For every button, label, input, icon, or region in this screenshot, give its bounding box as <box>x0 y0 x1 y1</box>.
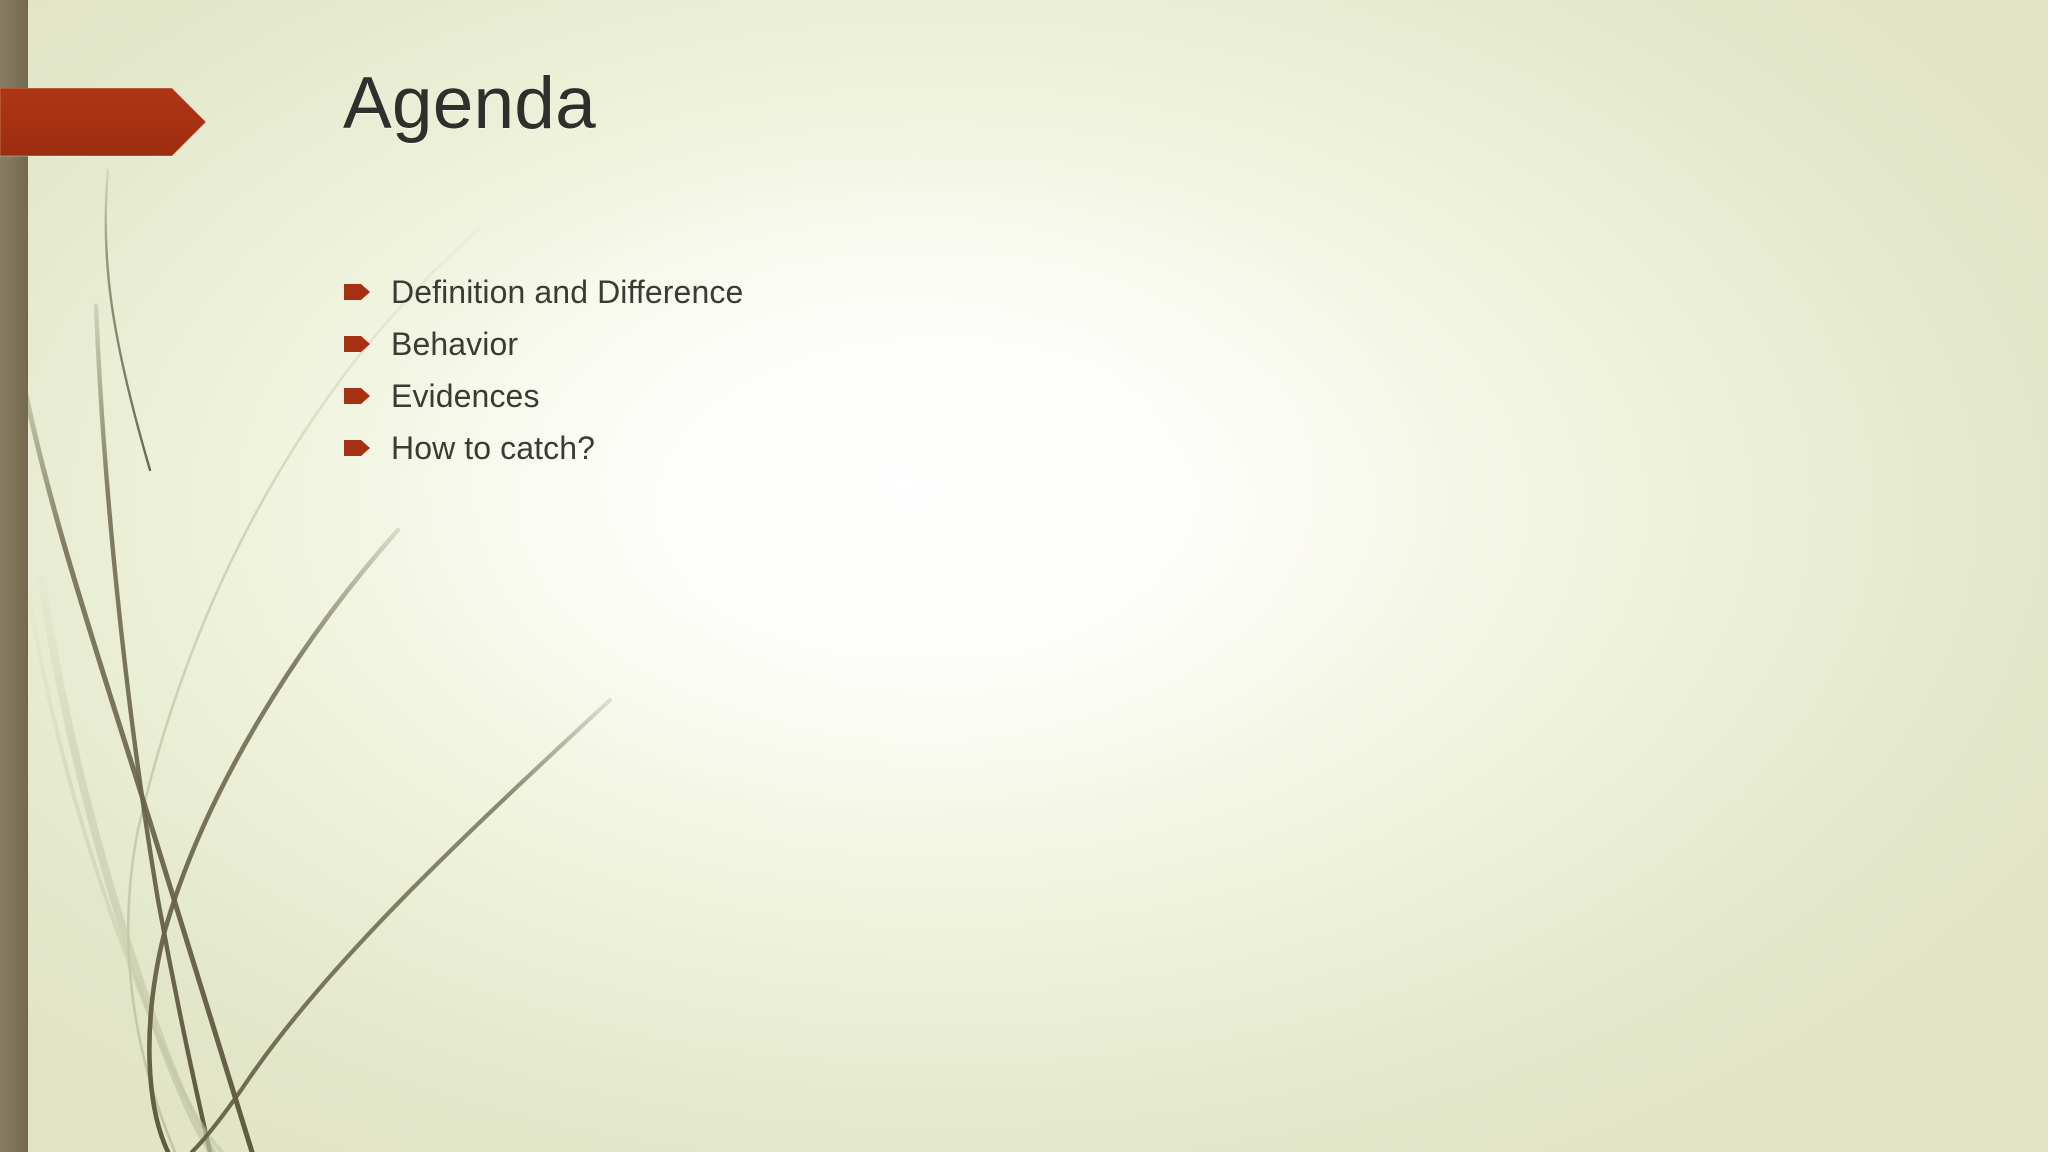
pentagon-arrow-bullet-icon <box>344 282 370 302</box>
list-item-label: Evidences <box>391 380 540 412</box>
pentagon-arrow-bullet-icon <box>344 438 370 458</box>
slide-background-highlight <box>0 0 2048 1152</box>
list-item[interactable]: Definition and Difference <box>344 266 1544 318</box>
pentagon-arrow-bullet-icon <box>344 386 370 406</box>
list-item[interactable]: Behavior <box>344 318 1544 370</box>
presentation-slide: Agenda Definition and Difference Behavio… <box>0 0 2048 1152</box>
title-banner-ribbon <box>0 88 206 156</box>
left-accent-bar-shading <box>0 0 28 1152</box>
list-item[interactable]: How to catch? <box>344 422 1544 474</box>
list-item-label: Definition and Difference <box>391 276 743 308</box>
agenda-bullet-list: Definition and Difference Behavior Evide… <box>344 266 1544 474</box>
list-item[interactable]: Evidences <box>344 370 1544 422</box>
list-item-label: Behavior <box>391 328 518 360</box>
page-title: Agenda <box>343 62 596 146</box>
pentagon-arrow-bullet-icon <box>344 334 370 354</box>
list-item-label: How to catch? <box>391 432 595 464</box>
